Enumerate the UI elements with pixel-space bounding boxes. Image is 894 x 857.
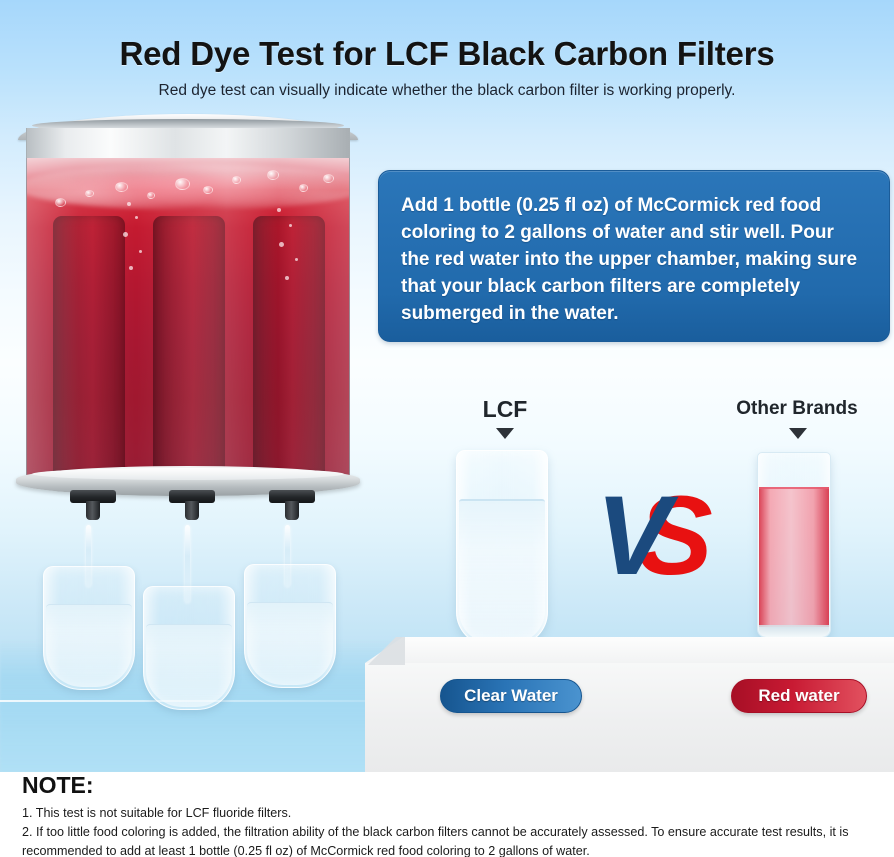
glass-water-fill xyxy=(247,602,333,685)
note-section: NOTE: 1. This test is not suitable for L… xyxy=(0,772,894,857)
red-water-fill xyxy=(759,487,829,627)
clear-water-fill xyxy=(459,499,545,643)
pedestal-top xyxy=(365,637,894,663)
upper-chamber-tank xyxy=(26,158,350,476)
spigot-neck xyxy=(185,501,199,520)
note-title: NOTE: xyxy=(22,772,94,799)
spigot-neck xyxy=(285,501,299,520)
spigot-neck xyxy=(86,501,100,520)
vs-graphic: S V xyxy=(596,478,736,590)
badge-red-water: Red water xyxy=(731,679,867,713)
tank-glass-reflection xyxy=(27,158,349,476)
spigot-1 xyxy=(70,490,116,528)
arrow-down-icon xyxy=(496,428,514,439)
spigot-2 xyxy=(169,490,215,528)
header: Red Dye Test for LCF Black Carbon Filter… xyxy=(0,0,894,100)
infographic-page: Red Dye Test for LCF Black Carbon Filter… xyxy=(0,0,894,857)
lcf-result-glass xyxy=(456,450,548,646)
note-lines: 1. This test is not suitable for LCF flu… xyxy=(22,804,882,857)
dispenser-steel-band xyxy=(26,128,350,162)
note-line: 2. If too little food coloring is added,… xyxy=(22,823,882,857)
water-dispenser-illustration xyxy=(8,114,368,514)
output-glass-3 xyxy=(244,564,336,688)
arrow-down-icon xyxy=(789,428,807,439)
badge-clear-water-label: Clear Water xyxy=(464,686,558,706)
output-glass-1 xyxy=(43,566,135,690)
pedestal-bevel xyxy=(365,637,405,665)
glass-base xyxy=(759,625,829,637)
spigot-3 xyxy=(269,490,315,528)
badge-red-water-label: Red water xyxy=(758,686,839,706)
glass-water-fill xyxy=(46,604,132,687)
page-subtitle: Red dye test can visually indicate wheth… xyxy=(0,82,894,100)
instruction-text: Add 1 bottle (0.25 fl oz) of McCormick r… xyxy=(401,193,865,328)
label-other-brands: Other Brands xyxy=(712,398,882,420)
glass-water-fill xyxy=(146,624,232,707)
note-line: 1. This test is not suitable for LCF flu… xyxy=(22,804,882,823)
badge-clear-water: Clear Water xyxy=(440,679,582,713)
instruction-callout: Add 1 bottle (0.25 fl oz) of McCormick r… xyxy=(378,170,890,342)
other-brands-result-glass xyxy=(757,452,831,638)
page-title: Red Dye Test for LCF Black Carbon Filter… xyxy=(0,36,894,72)
output-glass-2 xyxy=(143,586,235,710)
vs-letter-v-shape: V xyxy=(596,478,679,590)
label-lcf: LCF xyxy=(440,396,570,423)
